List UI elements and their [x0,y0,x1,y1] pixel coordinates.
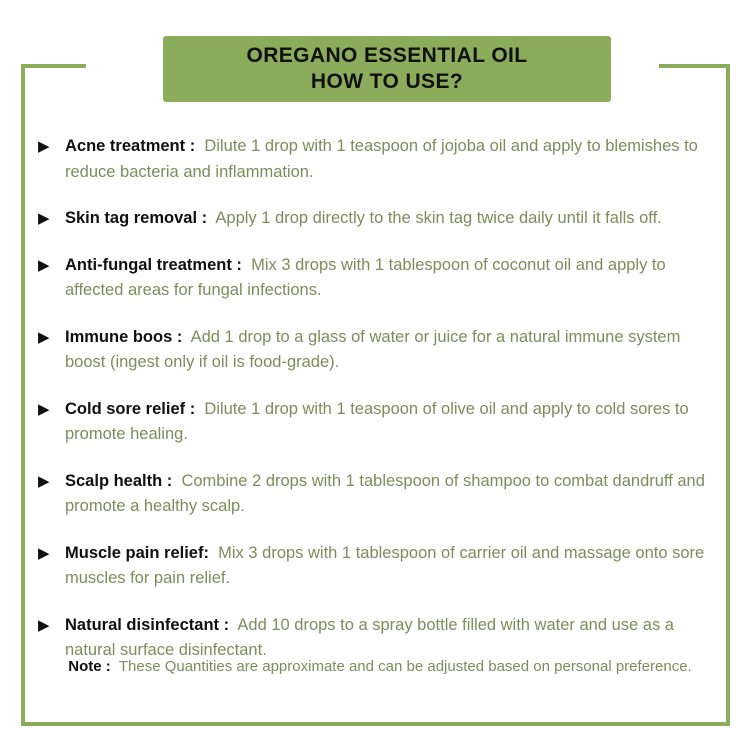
frame-top-left-stub [21,64,86,68]
tip-text: Anti-fungal treatment : Mix 3 drops with… [65,253,722,304]
list-item: ▶ Skin tag removal : Apply 1 drop direct… [38,206,722,232]
tip-title: Scalp health : [65,472,177,490]
tip-text: Scalp health : Combine 2 drops with 1 ta… [65,469,722,520]
triangle-right-bullet-icon: ▶ [38,206,65,231]
tip-title: Skin tag removal : [65,209,212,227]
triangle-right-bullet-icon: ▶ [38,541,65,566]
frame-left-rule [21,64,25,726]
tip-title: Muscle pain relief: [65,544,214,562]
triangle-right-bullet-icon: ▶ [38,325,65,350]
triangle-right-bullet-icon: ▶ [38,253,65,278]
list-item: ▶ Anti-fungal treatment : Mix 3 drops wi… [38,253,722,304]
header-title-line-2: HOW TO USE? [311,69,463,95]
note-text: These Quantities are approximate and can… [119,658,692,675]
header-title-line-1: OREGANO ESSENTIAL OIL [246,43,527,69]
tip-title: Anti-fungal treatment : [65,256,247,274]
triangle-right-bullet-icon: ▶ [38,134,65,159]
note-label: Note : [68,658,115,675]
frame-bottom-rule [21,722,730,726]
tip-description: Apply 1 drop directly to the skin tag tw… [215,209,661,227]
list-item: ▶ Acne treatment : Dilute 1 drop with 1 … [38,134,722,185]
tip-text: Acne treatment : Dilute 1 drop with 1 te… [65,134,722,185]
frame-top-right-stub [659,64,730,68]
list-item: ▶ Muscle pain relief: Mix 3 drops with 1… [38,541,722,592]
tip-text: Immune boos : Add 1 drop to a glass of w… [65,325,722,376]
frame-right-rule [726,64,730,726]
tip-title: Immune boos : [65,328,187,346]
triangle-right-bullet-icon: ▶ [38,469,65,494]
header-banner: OREGANO ESSENTIAL OIL HOW TO USE? [163,36,611,102]
tip-text: Muscle pain relief: Mix 3 drops with 1 t… [65,541,722,592]
list-item: ▶ Scalp health : Combine 2 drops with 1 … [38,469,722,520]
usage-tips-list: ▶ Acne treatment : Dilute 1 drop with 1 … [38,134,722,664]
list-item: ▶ Immune boos : Add 1 drop to a glass of… [38,325,722,376]
triangle-right-bullet-icon: ▶ [38,613,65,638]
list-item: ▶ Cold sore relief : Dilute 1 drop with … [38,397,722,448]
tip-text: Skin tag removal : Apply 1 drop directly… [65,206,722,232]
tip-title: Natural disinfectant : [65,616,234,634]
tip-title: Acne treatment : [65,137,200,155]
triangle-right-bullet-icon: ▶ [38,397,65,422]
tip-text: Cold sore relief : Dilute 1 drop with 1 … [65,397,722,448]
note-block: Note : These Quantities are approximate … [38,655,722,679]
tip-title: Cold sore relief : [65,400,200,418]
